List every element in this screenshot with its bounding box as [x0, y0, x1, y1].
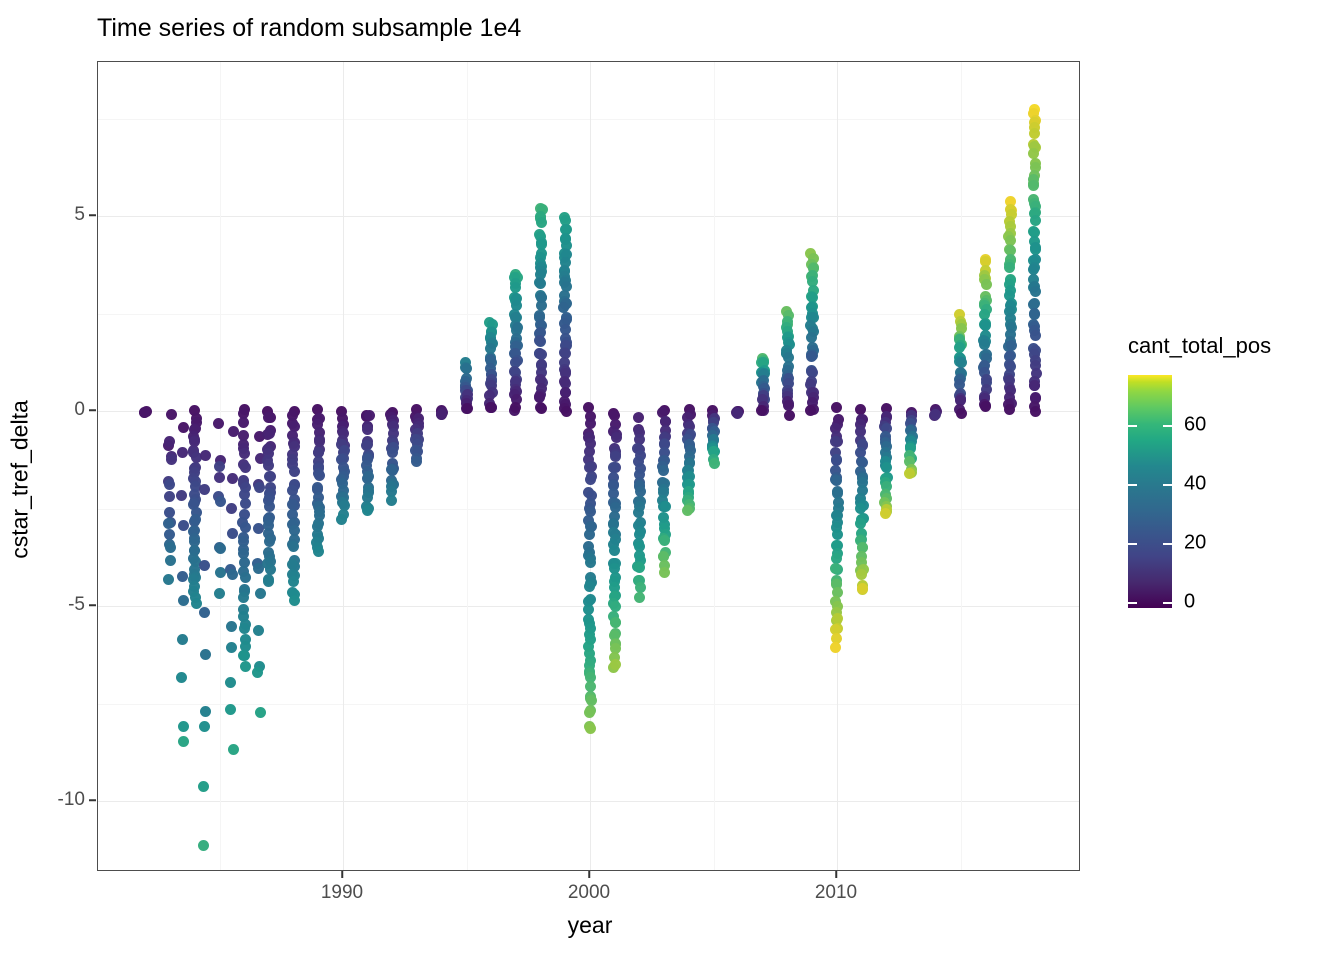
data-point — [856, 569, 867, 580]
data-point — [981, 279, 992, 290]
data-point — [732, 408, 743, 419]
data-point — [610, 659, 621, 670]
data-point — [805, 405, 816, 416]
data-point — [240, 572, 251, 583]
data-point — [1004, 404, 1015, 415]
data-point — [227, 528, 238, 539]
data-point — [585, 723, 596, 734]
plot-root: Time series of random subsample 1e4 50-5… — [0, 0, 1344, 960]
data-point — [199, 560, 210, 571]
data-point — [178, 736, 189, 747]
legend-label: 40 — [1184, 473, 1206, 496]
data-point — [200, 706, 211, 717]
gridline-major-y — [98, 801, 1079, 802]
data-point — [784, 410, 795, 421]
data-point — [214, 472, 225, 483]
data-point — [199, 721, 210, 732]
plot-panel — [97, 61, 1080, 871]
data-point — [512, 322, 523, 333]
data-point — [1030, 330, 1041, 341]
data-point — [1030, 286, 1041, 297]
data-point — [176, 672, 187, 683]
data-point — [609, 545, 620, 556]
data-point — [1004, 262, 1015, 273]
data-point — [534, 392, 545, 403]
data-point — [386, 495, 397, 506]
data-point — [633, 412, 644, 423]
data-point — [1029, 128, 1040, 139]
data-point — [255, 707, 266, 718]
data-point — [806, 351, 817, 362]
data-point — [166, 409, 177, 420]
legend-colorbar — [1128, 375, 1172, 608]
x-tick-label: 2010 — [815, 882, 857, 904]
data-point — [387, 447, 398, 458]
data-point — [199, 484, 210, 495]
data-point — [830, 642, 841, 653]
data-point — [265, 564, 276, 575]
data-point — [831, 454, 842, 465]
data-point — [255, 588, 266, 599]
data-point — [227, 569, 238, 580]
data-point — [225, 704, 236, 715]
data-point — [289, 466, 300, 477]
data-point — [225, 677, 236, 688]
data-point — [362, 424, 373, 435]
gridline-major-y — [98, 216, 1079, 217]
data-point — [177, 447, 188, 458]
data-point — [436, 409, 447, 420]
data-point — [608, 462, 619, 473]
legend-tick-mark — [1163, 484, 1172, 486]
data-point — [1029, 308, 1040, 319]
data-point — [1028, 148, 1039, 159]
legend-label: 60 — [1184, 414, 1206, 437]
legend-title: cant_total_pos — [1128, 333, 1271, 359]
data-point — [485, 402, 496, 413]
data-point — [165, 542, 176, 553]
data-point — [139, 407, 150, 418]
data-point — [200, 450, 211, 461]
data-point — [314, 470, 325, 481]
data-point — [584, 581, 595, 592]
data-point — [252, 667, 263, 678]
data-point — [288, 541, 299, 552]
data-point — [263, 412, 274, 423]
legend-tick-mark — [1163, 425, 1172, 427]
data-point — [263, 460, 274, 471]
data-point — [198, 781, 209, 792]
data-point — [534, 335, 545, 346]
data-point — [264, 471, 275, 482]
gridline-minor-x — [961, 62, 962, 870]
x-tick-label: 2000 — [568, 882, 610, 904]
data-point — [178, 721, 189, 732]
data-point — [178, 422, 189, 433]
data-point — [227, 473, 238, 484]
gridline-minor-y — [98, 314, 1079, 315]
data-point — [239, 623, 250, 634]
data-point — [214, 588, 225, 599]
data-point — [585, 557, 596, 568]
data-point — [264, 501, 275, 512]
data-point — [264, 428, 275, 439]
data-point — [228, 744, 239, 755]
data-point — [461, 363, 472, 374]
y-tick-label: 5 — [74, 204, 85, 226]
data-point — [610, 617, 621, 628]
data-point — [177, 634, 188, 645]
data-point — [191, 598, 202, 609]
data-point — [178, 595, 189, 606]
data-point — [1029, 380, 1040, 391]
data-point — [561, 406, 572, 417]
x-tick-mark — [588, 871, 590, 878]
data-point — [165, 555, 176, 566]
data-point — [709, 458, 720, 469]
legend-tick-mark — [1128, 425, 1137, 427]
legend-tick-mark — [1163, 602, 1172, 604]
data-point — [857, 583, 868, 594]
legend-tick-mark — [1128, 602, 1137, 604]
x-tick-mark — [835, 871, 837, 878]
data-point — [611, 432, 622, 443]
x-tick-label: 1990 — [321, 882, 363, 904]
data-point — [930, 409, 941, 420]
data-point — [253, 625, 264, 636]
data-point — [635, 582, 646, 593]
data-point — [1028, 180, 1039, 191]
data-point — [411, 456, 422, 467]
data-point — [177, 571, 188, 582]
data-point — [166, 454, 177, 465]
data-point — [535, 278, 546, 289]
data-point — [313, 546, 324, 557]
data-point — [226, 621, 237, 632]
data-point — [214, 461, 225, 472]
y-axis-title: cstar_tref_delta — [7, 160, 34, 800]
data-point — [226, 503, 237, 514]
legend-tick-mark — [1128, 543, 1137, 545]
data-point — [226, 642, 237, 653]
page-title: Time series of random subsample 1e4 — [97, 14, 521, 43]
data-point — [634, 562, 645, 573]
data-point — [240, 462, 251, 473]
data-point — [288, 576, 299, 587]
y-tick-mark — [89, 409, 96, 411]
y-tick-label: -10 — [58, 789, 85, 811]
data-point — [658, 465, 669, 476]
legend-label: 20 — [1184, 532, 1206, 555]
data-point — [584, 529, 595, 540]
data-point — [254, 482, 265, 493]
data-point — [682, 505, 693, 516]
data-point — [199, 607, 210, 618]
gridline-minor-y — [98, 119, 1079, 120]
data-point — [238, 650, 249, 661]
data-point — [240, 498, 251, 509]
data-point — [462, 403, 473, 414]
data-point — [659, 535, 670, 546]
data-point — [215, 543, 226, 554]
data-point — [659, 567, 670, 578]
data-point — [585, 474, 596, 485]
data-point — [215, 567, 226, 578]
data-point — [363, 471, 374, 482]
data-point — [176, 490, 187, 501]
data-point — [536, 403, 547, 414]
data-point — [215, 496, 226, 507]
data-point — [831, 402, 842, 413]
data-point — [336, 514, 347, 525]
data-point — [164, 491, 175, 502]
data-point — [634, 592, 645, 603]
data-point — [660, 501, 671, 512]
data-point — [610, 451, 621, 462]
data-point — [1030, 406, 1041, 417]
legend-tick-mark — [1128, 484, 1137, 486]
legend-label: 0 — [1184, 591, 1195, 614]
data-point — [238, 417, 249, 428]
data-point — [1030, 242, 1041, 253]
data-point — [584, 707, 595, 718]
y-tick-mark — [89, 214, 96, 216]
data-point — [163, 574, 174, 585]
data-point — [264, 536, 275, 547]
y-tick-mark — [89, 799, 96, 801]
x-tick-mark — [341, 871, 343, 878]
x-axis-title: year — [0, 912, 1180, 939]
data-point — [213, 418, 224, 429]
data-point — [362, 505, 373, 516]
data-point — [831, 475, 842, 486]
data-point — [956, 408, 967, 419]
y-tick-mark — [89, 604, 96, 606]
y-tick-label: -5 — [68, 594, 85, 616]
data-point — [239, 448, 250, 459]
data-point — [364, 410, 375, 421]
data-point — [830, 436, 841, 447]
data-point — [263, 576, 274, 587]
data-point — [1028, 264, 1039, 275]
data-point — [880, 508, 891, 519]
y-tick-label: 0 — [74, 399, 85, 421]
data-point — [164, 479, 175, 490]
data-point — [240, 661, 251, 672]
data-point — [536, 217, 547, 228]
data-point — [198, 840, 209, 851]
data-point — [1030, 215, 1041, 226]
data-point — [832, 529, 843, 540]
data-point — [289, 595, 300, 606]
data-point — [238, 592, 249, 603]
data-point — [200, 649, 211, 660]
legend-tick-mark — [1163, 543, 1172, 545]
gridline-minor-x — [467, 62, 468, 870]
